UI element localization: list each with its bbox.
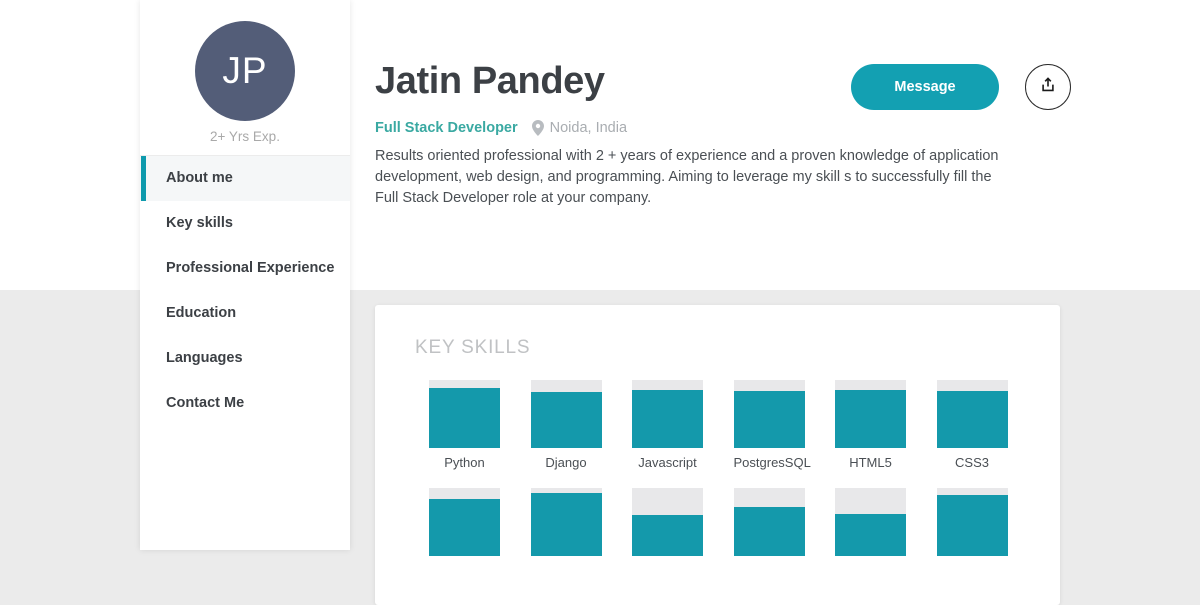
profile-actions: Message [851,64,1071,110]
sidebar-nav: About me Key skills Professional Experie… [140,156,350,426]
sidebar-item-about-me[interactable]: About me [140,156,350,201]
skill-item: Javascript [632,380,734,470]
skill-bar-track [734,488,805,556]
sidebar: JP 2+ Yrs Exp. About me Key skills Profe… [140,0,350,550]
profile-location: Noida, India [550,120,627,136]
sidebar-profile-block: JP 2+ Yrs Exp. [140,0,350,156]
skill-label: Python [429,455,500,470]
skill-item [429,488,531,563]
share-button[interactable] [1025,64,1071,110]
skill-bar-fill [429,388,500,448]
key-skills-card: KEY SKILLS PythonDjangoJavascriptPostgre… [375,305,1060,605]
experience-label: 2+ Yrs Exp. [140,129,350,144]
sidebar-item-professional-experience[interactable]: Professional Experience [140,246,350,291]
share-upload-icon [1038,75,1058,100]
skill-bar-track [531,488,602,556]
skill-bar-fill [937,391,1008,448]
sidebar-item-languages[interactable]: Languages [140,336,350,381]
skill-label: CSS3 [937,455,1008,470]
skill-bar-fill [531,493,602,556]
skill-item: Django [531,380,633,470]
skill-bar-fill [632,390,703,448]
skill-bar-fill [531,392,602,448]
sidebar-item-education[interactable]: Education [140,291,350,336]
sidebar-item-label: About me [166,170,233,186]
skill-item [937,488,1039,563]
sidebar-item-key-skills[interactable]: Key skills [140,201,350,246]
skill-bar-track [937,380,1008,448]
skill-item [632,488,734,563]
skill-bar-fill [429,499,500,556]
skill-label: Django [531,455,602,470]
message-button[interactable]: Message [851,64,999,110]
skill-item: CSS3 [937,380,1039,470]
sidebar-item-contact-me[interactable]: Contact Me [140,381,350,426]
skill-bar-fill [734,507,805,556]
sidebar-item-label: Contact Me [166,395,244,411]
skill-bar-fill [835,390,906,448]
skill-item [835,488,937,563]
skill-bar-track [632,488,703,556]
skill-item [531,488,633,563]
skill-bar-track [937,488,1008,556]
map-pin-icon [532,120,544,136]
skill-bar-track [835,488,906,556]
key-skills-grid: PythonDjangoJavascriptPostgresSQLHTML5CS… [429,380,1039,581]
sidebar-item-label: Professional Experience [166,260,334,276]
profile-subline: Full Stack Developer Noida, India [375,120,627,136]
skill-bar-track [429,488,500,556]
skill-bar-track [531,380,602,448]
skill-item [734,488,836,563]
sidebar-item-label: Education [166,305,236,321]
key-skills-title: KEY SKILLS [415,337,530,359]
profile-bio: Results oriented professional with 2 + y… [375,146,1013,209]
skill-label: Javascript [632,455,703,470]
skill-item: Python [429,380,531,470]
skill-label: HTML5 [835,455,906,470]
skill-label: PostgresSQL [734,455,805,470]
sidebar-item-label: Languages [166,350,243,366]
skill-bar-fill [734,391,805,448]
profile-role: Full Stack Developer [375,120,518,136]
skill-bar-fill [937,495,1008,556]
skill-bar-track [734,380,805,448]
profile-page: JP 2+ Yrs Exp. About me Key skills Profe… [0,0,1200,550]
page-title: Jatin Pandey [375,60,605,103]
skill-bar-track [632,380,703,448]
skill-bar-track [429,380,500,448]
sidebar-item-label: Key skills [166,215,233,231]
skill-item: PostgresSQL [734,380,836,470]
skill-item: HTML5 [835,380,937,470]
skill-bar-track [835,380,906,448]
avatar: JP [195,21,295,121]
